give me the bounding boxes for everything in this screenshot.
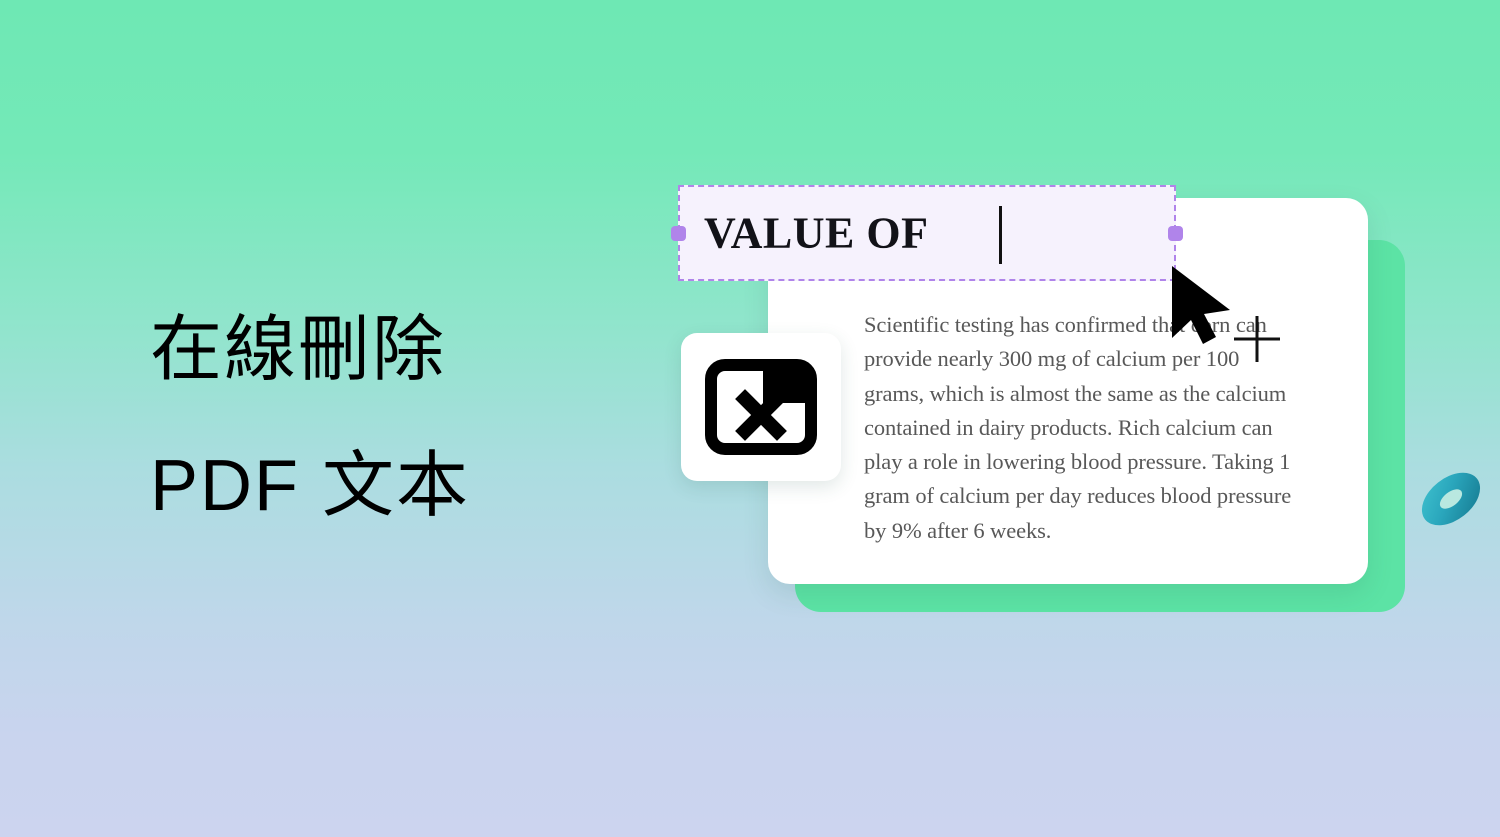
- torus-decoration: [1414, 463, 1488, 540]
- hero-banner: 在線刪除 PDF 文本 Scientific testing has confi…: [0, 0, 1500, 837]
- selection-handle-right[interactable]: [1168, 226, 1183, 241]
- text-caret: [999, 206, 1002, 264]
- crosshair-icon: [1233, 315, 1281, 368]
- page-title: 在線刪除 PDF 文本: [150, 282, 710, 554]
- text-selection-box[interactable]: VALUE OF: [678, 185, 1176, 281]
- headline-line-1: 在線刪除: [150, 282, 710, 418]
- headline-line-2: PDF 文本: [150, 418, 710, 554]
- delete-text-button[interactable]: [681, 333, 841, 481]
- mouse-pointer-icon: [1170, 264, 1240, 351]
- selection-handle-left[interactable]: [671, 226, 686, 241]
- delete-text-icon: [705, 359, 817, 455]
- selected-text: VALUE OF: [704, 208, 938, 259]
